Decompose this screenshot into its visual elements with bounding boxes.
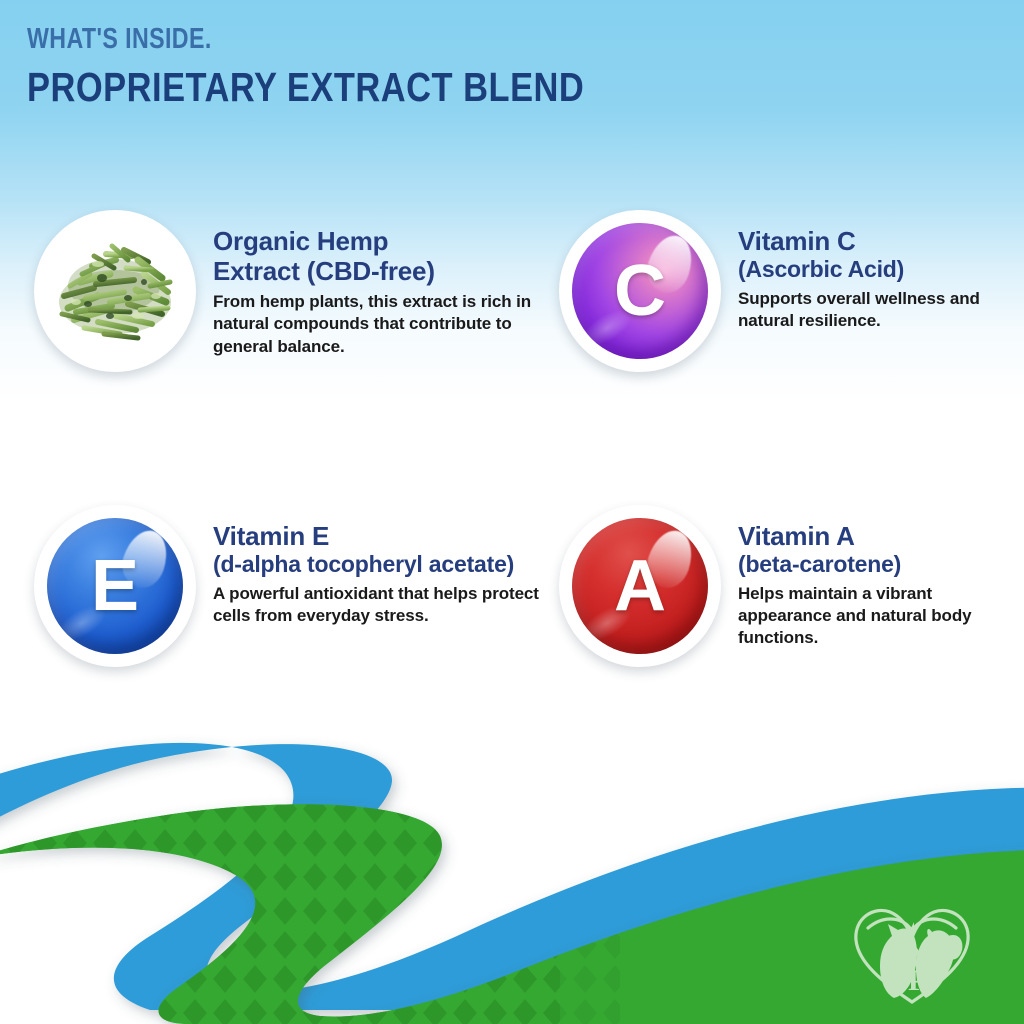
vitamin-a-icon-circle: A [559, 505, 721, 667]
ingredient-subtitle: Extract (CBD-free) [213, 256, 554, 286]
ingredient-body: A powerful antioxidant that helps protec… [213, 583, 554, 627]
vitamin-a-letter: A [614, 550, 666, 622]
ingredient-body: Supports overall wellness and natural re… [738, 288, 1019, 332]
ingredient-subtitle: (d-alpha tocopheryl acetate) [213, 551, 554, 578]
vitamin-a-sphere-icon: A [572, 518, 708, 654]
ingredient-text-vitamin-e: Vitamin E (d-alpha tocopheryl acetate) A… [196, 505, 554, 627]
ingredient-text-vitamin-a: Vitamin A (beta-carotene) Helps maintain… [721, 505, 1019, 650]
brand-logo: R P [848, 898, 976, 1008]
ingredient-text-hemp: Organic Hemp Extract (CBD-free) From hem… [196, 210, 554, 358]
vitamin-e-letter: E [91, 550, 139, 622]
vitamin-c-icon-circle: C [559, 210, 721, 372]
ingredient-subtitle: (beta-carotene) [738, 551, 1019, 578]
ingredient-card-vitamin-c: C Vitamin C (Ascorbic Acid) Supports ove… [559, 210, 1019, 372]
ingredient-subtitle: (Ascorbic Acid) [738, 256, 1019, 283]
ingredient-card-vitamin-e: E Vitamin E (d-alpha tocopheryl acetate)… [34, 505, 554, 667]
ingredient-title: Vitamin C [738, 226, 1019, 256]
ingredient-body: Helps maintain a vibrant appearance and … [738, 583, 1019, 649]
ingredient-title: Vitamin A [738, 521, 1019, 551]
ingredient-title: Organic Hemp [213, 226, 554, 256]
infographic-poster: WHAT'S INSIDE. PROPRIETARY EXTRACT BLEND [0, 0, 1024, 1024]
ingredient-body: From hemp plants, this extract is rich i… [213, 291, 554, 357]
vitamin-c-sphere-icon: C [572, 223, 708, 359]
hemp-photo-icon [40, 216, 190, 366]
svg-text:P: P [908, 964, 926, 997]
vitamin-e-sphere-icon: E [47, 518, 183, 654]
vitamin-e-icon-circle: E [34, 505, 196, 667]
ingredient-card-vitamin-a: A Vitamin A (beta-carotene) Helps mainta… [559, 505, 1019, 667]
hemp-icon-circle [34, 210, 196, 372]
ingredient-card-hemp: Organic Hemp Extract (CBD-free) From hem… [34, 210, 554, 372]
ingredient-text-vitamin-c: Vitamin C (Ascorbic Acid) Supports overa… [721, 210, 1019, 332]
vitamin-c-letter: C [614, 255, 666, 327]
ingredient-title: Vitamin E [213, 521, 554, 551]
